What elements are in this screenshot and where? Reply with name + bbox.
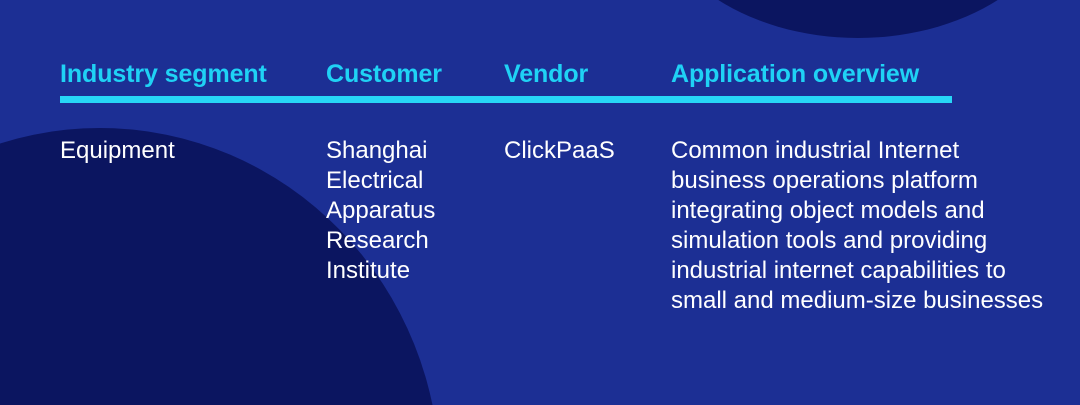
column-header-industry-segment: Industry segment: [60, 60, 267, 89]
slide-canvas: Industry segment Customer Vendor Applica…: [0, 0, 1080, 405]
header-underline-rule: [60, 96, 952, 103]
cell-application-overview: Common industrial Internet business oper…: [671, 136, 1051, 316]
column-header-customer: Customer: [326, 60, 442, 89]
cell-vendor: ClickPaaS: [504, 136, 664, 166]
column-header-vendor: Vendor: [504, 60, 588, 89]
cell-customer: Shanghai Electrical Apparatus Research I…: [326, 136, 496, 286]
cell-industry-segment: Equipment: [60, 136, 310, 166]
column-header-application-overview: Application overview: [671, 60, 919, 89]
comparison-table: Industry segment Customer Vendor Applica…: [0, 0, 1080, 405]
